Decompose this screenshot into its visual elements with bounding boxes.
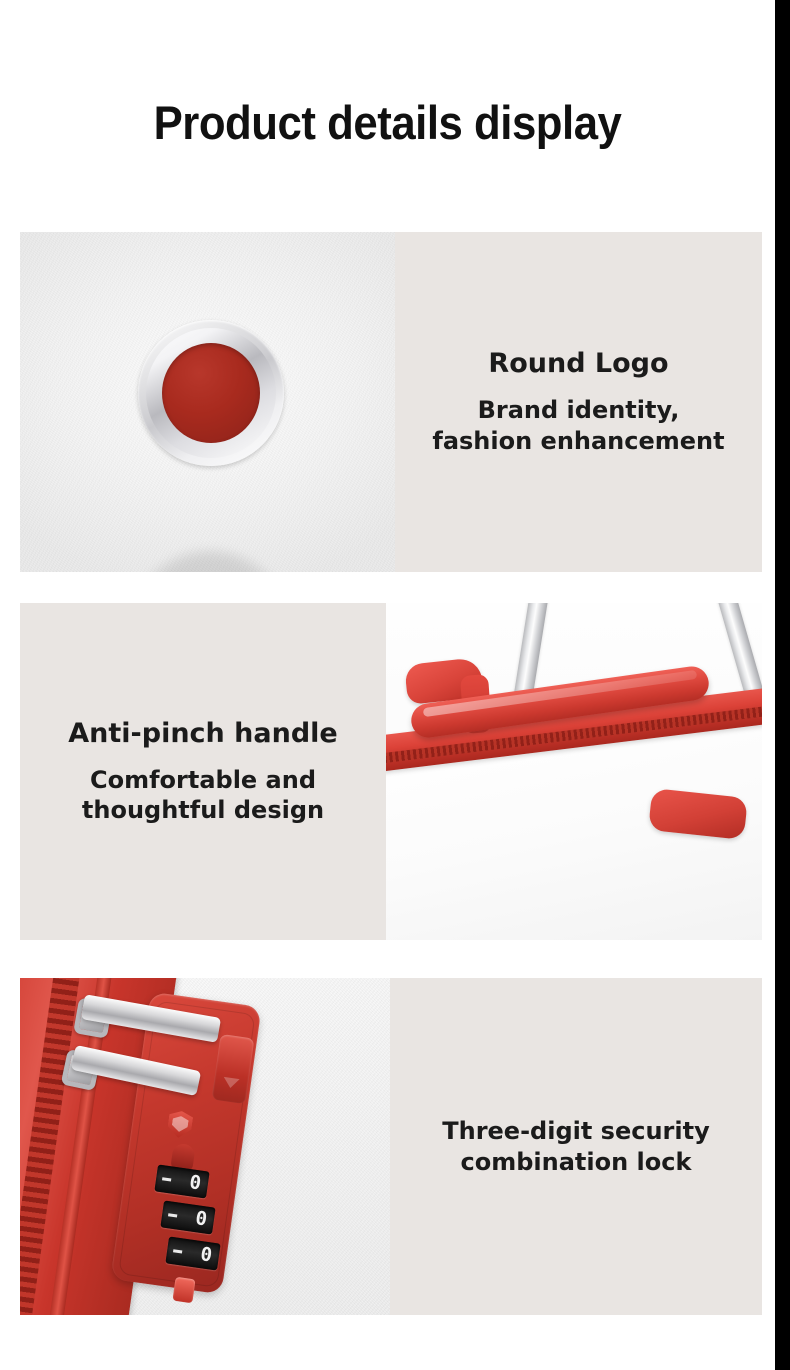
logo-chrome-ring-inner bbox=[146, 328, 276, 458]
product-details-page: Product details display Round Logo Brand… bbox=[0, 0, 790, 1370]
subline-line-1: Three-digit security bbox=[442, 1117, 710, 1145]
dial-tick-icon bbox=[162, 1177, 171, 1181]
dial-tick-icon bbox=[168, 1213, 177, 1217]
arrow-down-icon bbox=[222, 1077, 239, 1089]
round-logo-photo bbox=[20, 232, 395, 572]
page-title: Product details display bbox=[27, 95, 748, 150]
subline-line-2: combination lock bbox=[461, 1148, 692, 1176]
panel-headline-round-logo: Round Logo bbox=[488, 347, 668, 381]
subline-line-2: thoughtful design bbox=[82, 796, 324, 824]
anti-pinch-handle-text-block: Anti-pinch handle Comfortable and though… bbox=[20, 603, 386, 940]
combination-lock-photo: 0 0 0 bbox=[20, 978, 390, 1315]
dial-digit-1: 0 bbox=[188, 1173, 202, 1193]
right-edge-band bbox=[775, 0, 790, 1370]
lock-slider-button bbox=[172, 1277, 195, 1304]
panel-subline-combination-lock: Three-digit security combination lock bbox=[442, 1116, 710, 1177]
dial-digit-2: 0 bbox=[194, 1209, 208, 1229]
feature-panel-round-logo: Round Logo Brand identity, fashion enhan… bbox=[20, 232, 762, 572]
feature-panel-combination-lock: 0 0 0 Three-digit security combination l… bbox=[20, 978, 762, 1315]
anti-pinch-handle-photo bbox=[386, 603, 762, 940]
subline-line-1: Brand identity, bbox=[478, 396, 680, 424]
dial-tick-icon bbox=[173, 1249, 182, 1253]
round-logo-text-block: Round Logo Brand identity, fashion enhan… bbox=[395, 232, 762, 572]
subline-line-2: fashion enhancement bbox=[432, 427, 724, 455]
tsa-shield-inner bbox=[171, 1115, 189, 1133]
logo-chrome-ring-outer bbox=[138, 320, 284, 466]
feature-panel-anti-pinch-handle: Anti-pinch handle Comfortable and though… bbox=[20, 603, 762, 940]
panel-headline-anti-pinch-handle: Anti-pinch handle bbox=[68, 717, 337, 751]
dial-digit-3: 0 bbox=[199, 1245, 213, 1265]
panel-subline-anti-pinch-handle: Comfortable and thoughtful design bbox=[82, 765, 324, 826]
combination-lock-text-block: Three-digit security combination lock bbox=[390, 978, 762, 1315]
panel-subline-round-logo: Brand identity, fashion enhancement bbox=[432, 395, 724, 456]
logo-red-disc bbox=[162, 343, 260, 443]
subline-line-1: Comfortable and bbox=[90, 766, 316, 794]
